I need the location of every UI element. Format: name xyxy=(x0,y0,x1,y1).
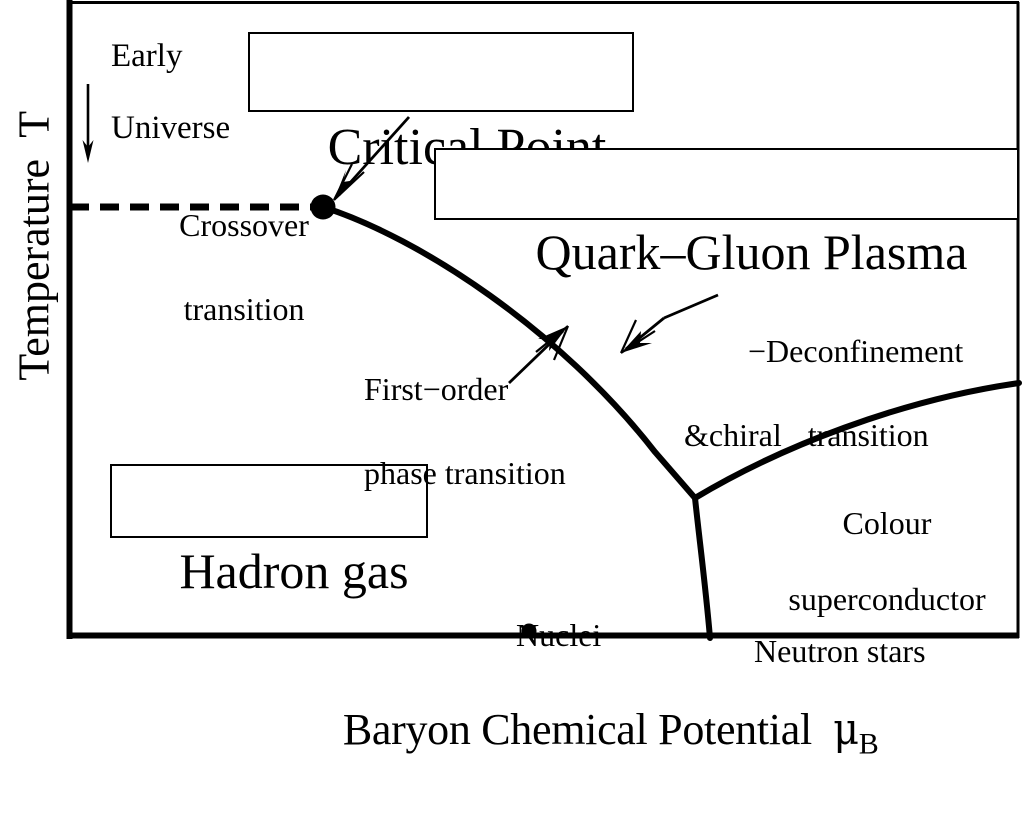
x-axis-title: Baryon Chemical Potential μB xyxy=(300,652,878,823)
neutron-star-boundary-curve xyxy=(695,498,710,638)
deconfinement-line1: −Deconfinement xyxy=(748,333,963,369)
first-order-line2: phase transition xyxy=(364,455,566,491)
deconfinement-arrow xyxy=(621,295,718,353)
quark-gluon-plasma-label: Quark–Gluon Plasma xyxy=(536,224,968,280)
early-universe-line2: Universe xyxy=(111,110,230,146)
crossover-transition-label: Crossover transition xyxy=(128,162,328,372)
crossover-line1: Crossover xyxy=(179,207,309,243)
nuclei-text: Nuclei xyxy=(516,617,601,653)
deconfinement-transition: transition xyxy=(808,417,929,453)
quark-gluon-plasma-box: Quark–Gluon Plasma xyxy=(434,148,1019,220)
early-universe-line1: Early xyxy=(111,38,182,74)
qcd-phase-diagram: Early Universe Crossover transition Crit… xyxy=(0,0,1024,716)
mu-symbol: μ xyxy=(833,704,858,755)
critical-point-box: Critical Point xyxy=(248,32,634,112)
deconfinement-chiral: chiral xyxy=(709,417,782,453)
y-axis-title: Temperature T xyxy=(0,52,102,482)
crossover-line2: transition xyxy=(184,291,305,327)
colour-sc-line1: Colour xyxy=(843,505,932,541)
hadron-gas-label: Hadron gas xyxy=(179,543,408,599)
first-order-line1: First−order xyxy=(364,371,508,407)
mu-subscript: B xyxy=(859,728,879,761)
x-axis-title-spacer xyxy=(812,705,833,754)
deconfinement-line2: &chiraltransition xyxy=(684,414,963,456)
x-axis-title-text: Baryon Chemical Potential xyxy=(343,705,812,754)
first-order-transition-label: First−order phase transition xyxy=(332,326,566,536)
y-axis-title-text: Temperature T xyxy=(10,111,59,381)
deconfinement-ampersand: & xyxy=(684,417,709,453)
